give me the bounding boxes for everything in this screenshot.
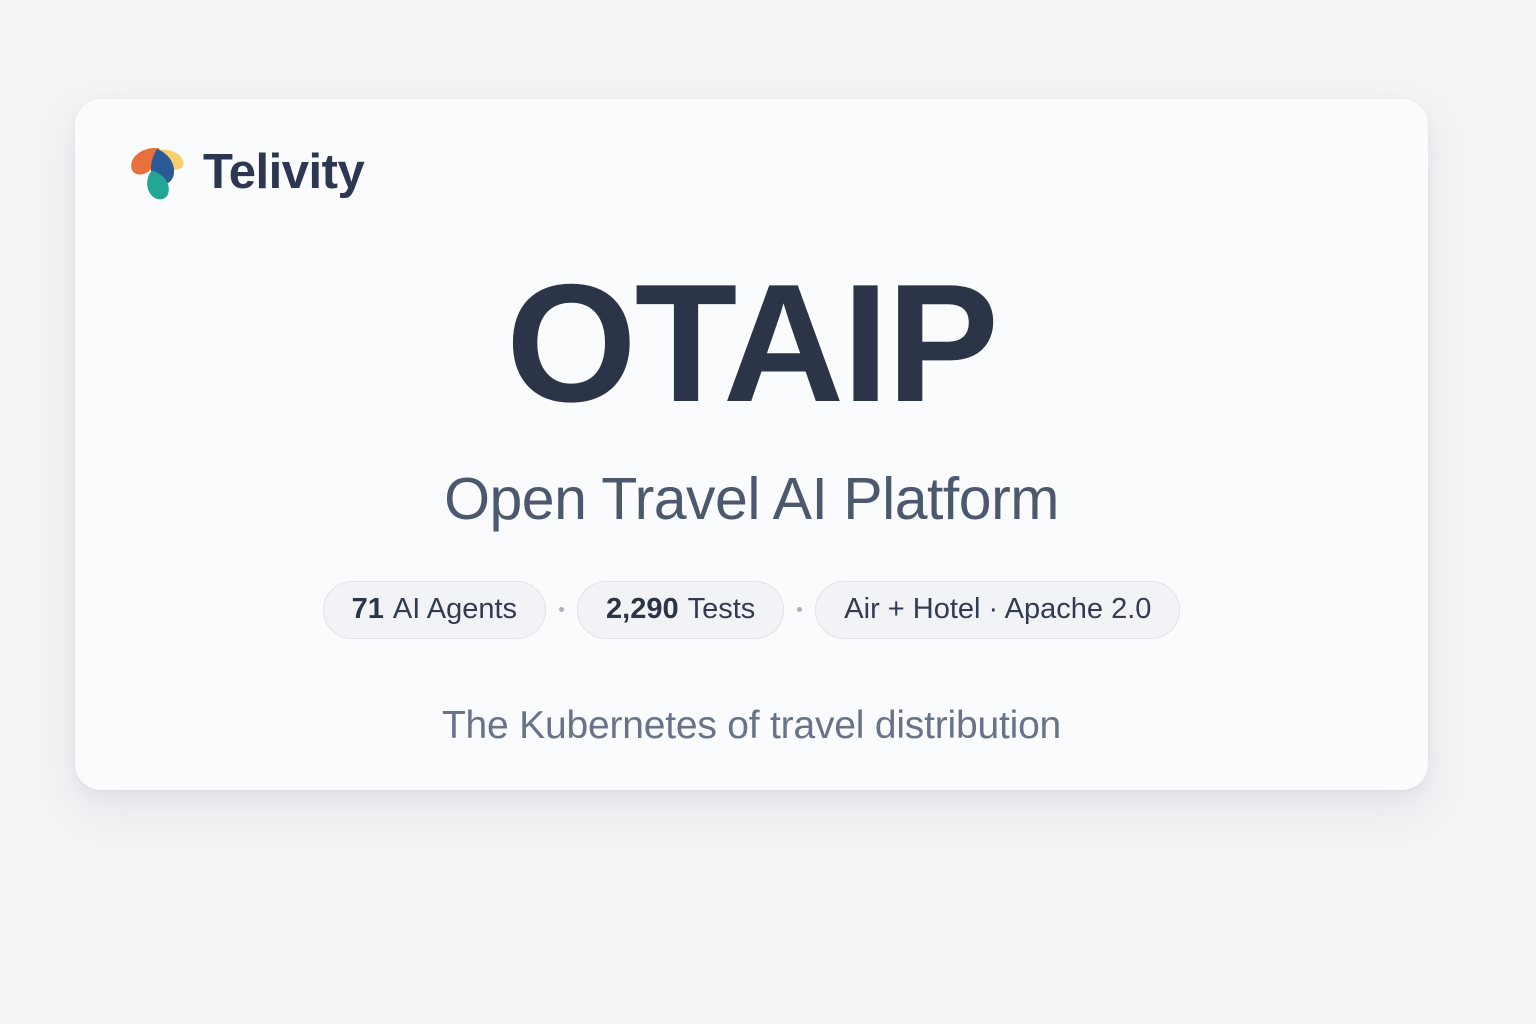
telivity-leaf-mark-icon (127, 141, 189, 203)
stat-badge-agents-label: AI Agents (393, 595, 517, 624)
badge-separator-dot (797, 607, 802, 612)
brand-name: Telivity (203, 148, 364, 197)
stat-badge-tests[interactable]: 2,290 Tests (577, 581, 784, 639)
stat-badge-row: 71 AI Agents 2,290 Tests Air + Hotel · A… (323, 581, 1181, 639)
page-tagline: The Kubernetes of travel distribution (442, 706, 1061, 745)
stat-badge-scope-license[interactable]: Air + Hotel · Apache 2.0 (815, 581, 1180, 639)
stat-badge-agents[interactable]: 71 AI Agents (323, 581, 546, 639)
stat-badge-tests-value: 2,290 (606, 595, 679, 624)
brand-logo[interactable]: Telivity (127, 141, 364, 203)
hero-content: OTAIP Open Travel AI Platform 71 AI Agen… (75, 259, 1428, 745)
hero-card: Telivity OTAIP Open Travel AI Platform 7… (75, 99, 1428, 790)
page-subtitle: Open Travel AI Platform (444, 469, 1059, 531)
page-canvas: Telivity OTAIP Open Travel AI Platform 7… (0, 0, 1536, 1024)
stat-badge-scope-license-label: Air + Hotel · Apache 2.0 (844, 595, 1151, 624)
stat-badge-agents-value: 71 (352, 595, 384, 624)
badge-separator-dot (559, 607, 564, 612)
page-title: OTAIP (506, 259, 997, 427)
stat-badge-tests-label: Tests (688, 595, 756, 624)
